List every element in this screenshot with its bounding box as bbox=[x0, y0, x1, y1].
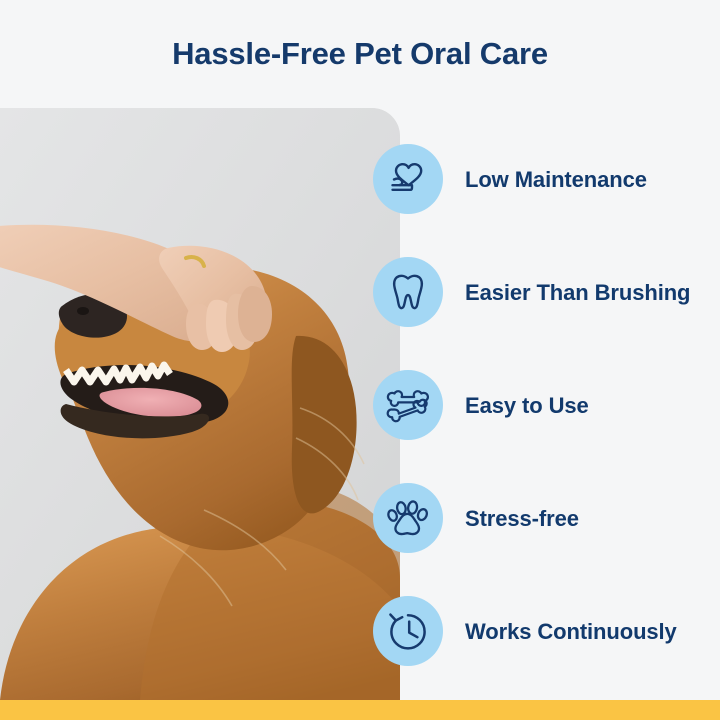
clock-refresh-icon bbox=[387, 611, 429, 651]
feature-label: Easier Than Brushing bbox=[465, 279, 690, 306]
feature-list: Low Maintenance Easier Than Brushing Eas… bbox=[0, 108, 720, 700]
tooth-icon bbox=[390, 272, 426, 312]
heart-paw-icon bbox=[388, 160, 428, 198]
bottom-accent-bar bbox=[0, 700, 720, 720]
feature-item-works-continuously[interactable]: Works Continuously bbox=[373, 596, 720, 666]
feature-label: Stress-free bbox=[465, 505, 579, 532]
icon-circle bbox=[373, 596, 443, 666]
feature-label: Low Maintenance bbox=[465, 166, 647, 193]
paw-print-icon bbox=[387, 498, 429, 538]
feature-item-easier-than-brushing[interactable]: Easier Than Brushing bbox=[373, 257, 720, 327]
feature-item-low-maintenance[interactable]: Low Maintenance bbox=[373, 144, 720, 214]
crossed-bones-icon bbox=[386, 386, 430, 424]
feature-label: Easy to Use bbox=[465, 392, 589, 419]
feature-item-stress-free[interactable]: Stress-free bbox=[373, 483, 720, 553]
feature-item-easy-to-use[interactable]: Easy to Use bbox=[373, 370, 720, 440]
icon-circle bbox=[373, 257, 443, 327]
feature-label: Works Continuously bbox=[465, 618, 677, 645]
header: Hassle-Free Pet Oral Care bbox=[0, 0, 720, 108]
icon-circle bbox=[373, 144, 443, 214]
icon-circle bbox=[373, 370, 443, 440]
icon-circle bbox=[373, 483, 443, 553]
page-title: Hassle-Free Pet Oral Care bbox=[172, 36, 548, 72]
